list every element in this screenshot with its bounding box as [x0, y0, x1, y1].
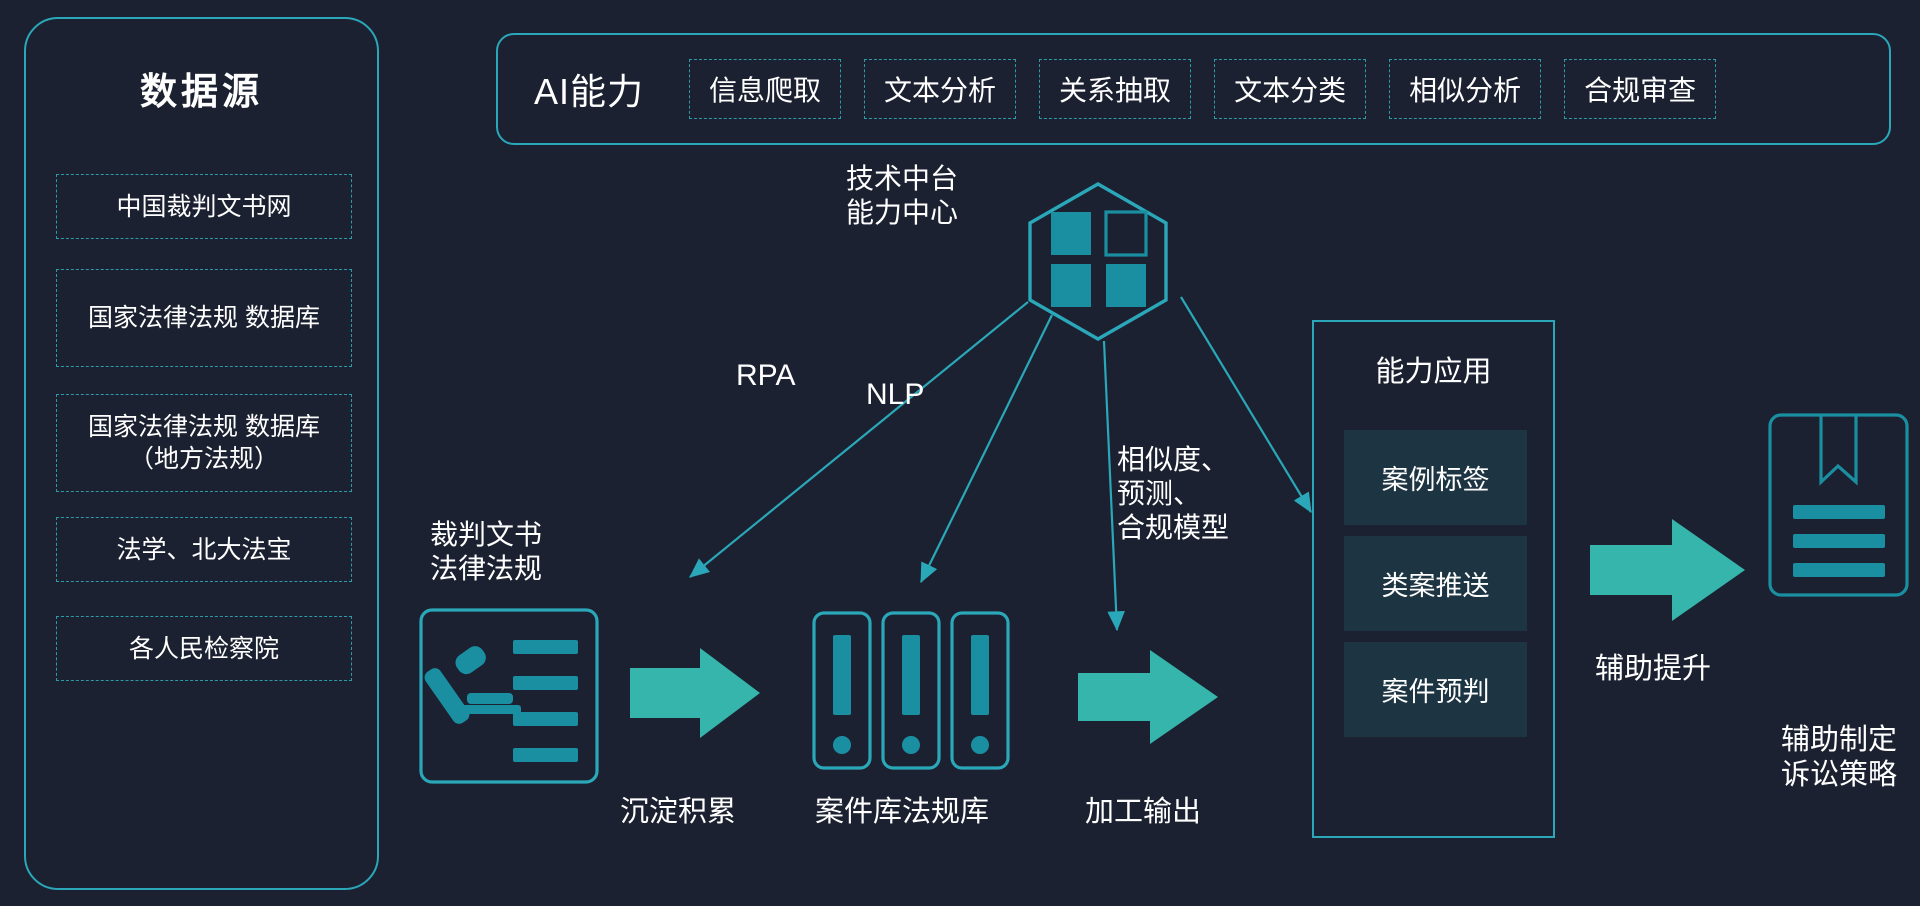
outcome-arrow-label: 辅助提升 [1595, 652, 1711, 687]
arrow2-label: 加工输出 [1085, 795, 1201, 830]
connector-nlp [921, 315, 1052, 582]
capability-application-panel: 能力应用 案例标签 类案推送 案件预判 [1312, 320, 1555, 838]
connector-label-models: 相似度、 预测、 合规模型 [1117, 443, 1229, 545]
ai-capability-title: AI能力 [534, 63, 644, 115]
ai-chip-1[interactable]: 文本分析 [864, 59, 1016, 119]
block-arrow-1 [630, 648, 760, 738]
data-source-title: 数据源 [26, 61, 377, 115]
four-squares-hexagon-icon [1030, 184, 1166, 339]
ai-chip-2[interactable]: 关系抽取 [1039, 59, 1191, 119]
three-servers-icon [814, 613, 1008, 768]
data-source-panel: 数据源 中国裁判文书网 国家法律法规 数据库 国家法律法规 数据库（地方法规） … [24, 17, 379, 890]
hub-label: 技术中台 能力中心 [846, 162, 958, 230]
data-source-item-0[interactable]: 中国裁判文书网 [56, 174, 352, 239]
ai-chip-5[interactable]: 合规审查 [1564, 59, 1716, 119]
ai-capability-bar: AI能力 信息爬取 文本分析 关系抽取 文本分类 相似分析 合规审查 [496, 33, 1891, 145]
connector-label-rpa: RPA [736, 358, 795, 395]
stage1-caption: 裁判文书 法律法规 [430, 518, 542, 586]
data-source-item-3[interactable]: 法学、北大法宝 [56, 517, 352, 582]
ai-chip-0[interactable]: 信息爬取 [689, 59, 841, 119]
data-source-item-1[interactable]: 国家法律法规 数据库 [56, 269, 352, 367]
capability-item-0[interactable]: 案例标签 [1344, 430, 1527, 525]
data-source-item-4[interactable]: 各人民检察院 [56, 616, 352, 681]
outcome-caption: 辅助制定 诉讼策略 [1768, 723, 1910, 794]
capability-item-1[interactable]: 类案推送 [1344, 536, 1527, 631]
data-source-item-2[interactable]: 国家法律法规 数据库（地方法规） [56, 394, 352, 492]
gavel-document-icon [421, 610, 597, 782]
connector-models [1104, 341, 1117, 630]
capability-item-2[interactable]: 案件预判 [1344, 642, 1527, 737]
block-arrow-2 [1078, 650, 1218, 744]
arrow1-label: 沉淀积累 [620, 795, 736, 830]
ai-chip-4[interactable]: 相似分析 [1389, 59, 1541, 119]
capability-application-title: 能力应用 [1314, 348, 1553, 390]
stage2-label: 案件库法规库 [815, 795, 989, 830]
bookmark-document-icon [1770, 415, 1907, 595]
block-arrow-3 [1590, 519, 1745, 621]
diagram-canvas: 数据源 中国裁判文书网 国家法律法规 数据库 国家法律法规 数据库（地方法规） … [0, 0, 1920, 906]
ai-chip-3[interactable]: 文本分类 [1214, 59, 1366, 119]
connector-rpa [690, 302, 1028, 577]
connector-label-nlp: NLP [866, 377, 924, 414]
